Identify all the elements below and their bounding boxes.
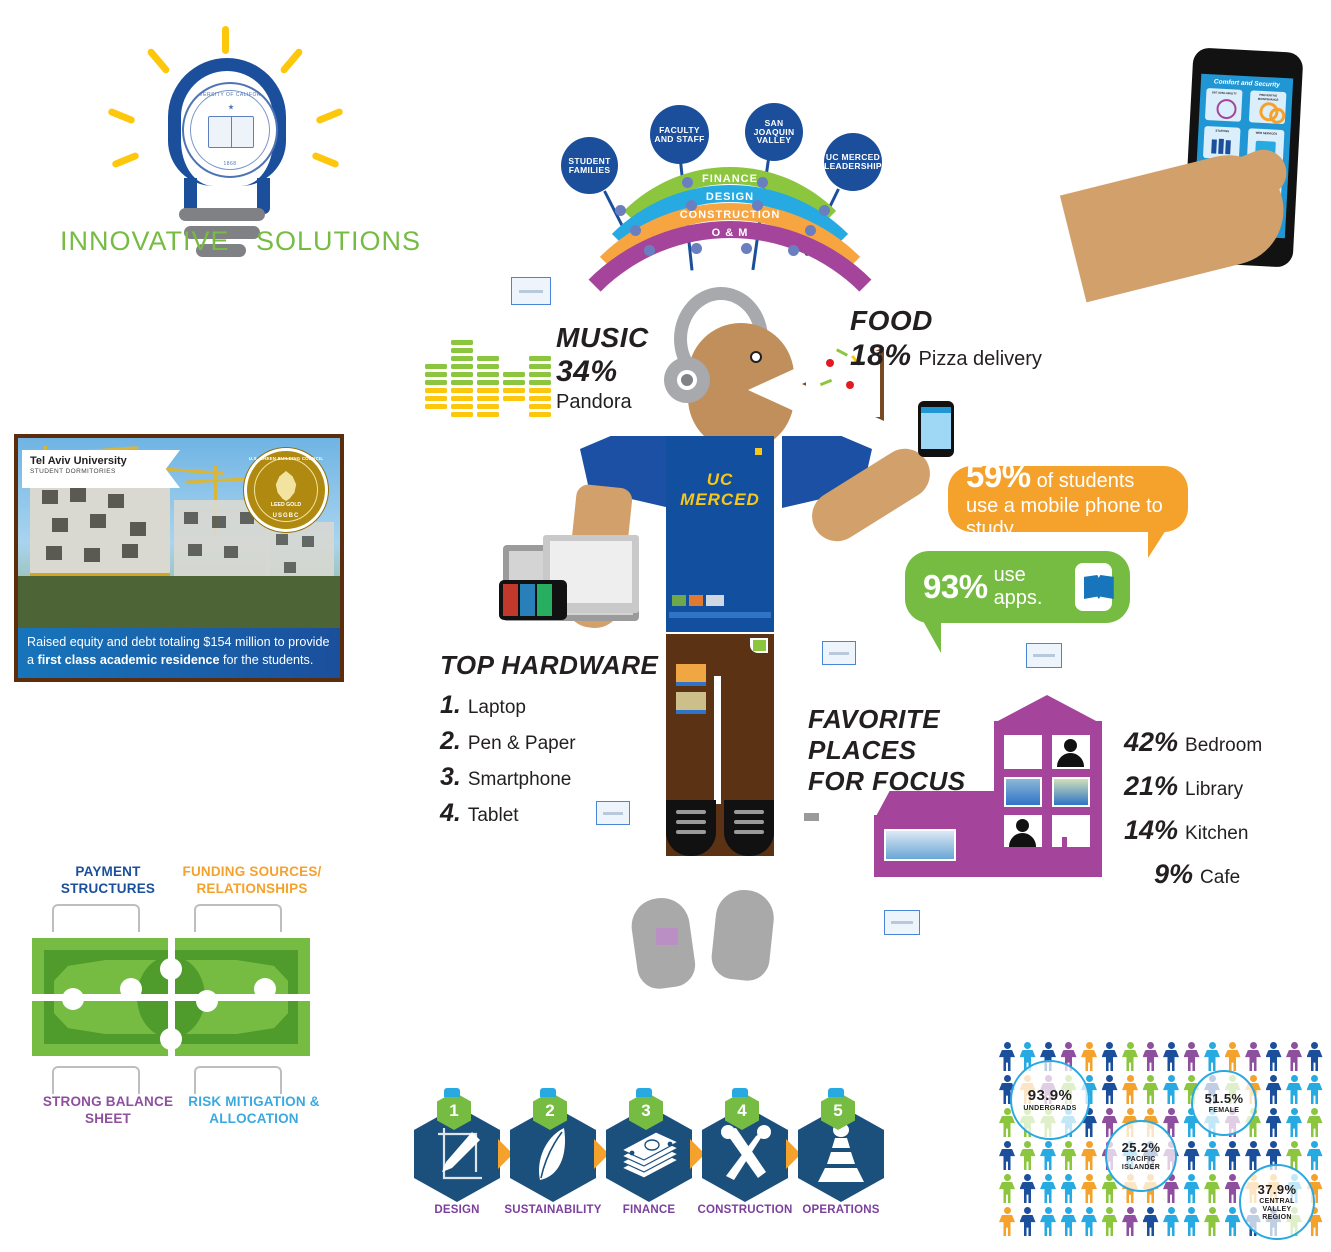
person-icon (1245, 1050, 1261, 1071)
person-icon (1065, 1042, 1072, 1049)
person-icon (1147, 1207, 1154, 1214)
person-icon (1127, 1207, 1134, 1214)
puzzle-label-funding-sources: FUNDING SOURCES/ RELATIONSHIPS (172, 864, 332, 898)
badge-level: LEED GOLD (247, 502, 325, 508)
person-icon (1209, 1174, 1216, 1181)
connection-node (615, 205, 626, 216)
person-icon (1020, 1215, 1036, 1236)
footprint-accent (656, 928, 678, 945)
step-label-operations: OPERATIONS (781, 1204, 901, 1216)
person-icon (1270, 1108, 1277, 1115)
demographic-label: CENTRAL VALLEY REGION (1247, 1198, 1307, 1222)
person-icon (1168, 1075, 1175, 1082)
list-item: 3. Smartphone (440, 763, 670, 792)
person-icon (1081, 1149, 1097, 1170)
person-icon (1045, 1042, 1052, 1049)
item-label: Pen & Paper (468, 733, 576, 755)
bubble-label: STUDENT FAMILIES (561, 157, 618, 175)
person-icon (1016, 819, 1029, 832)
step-number: 1 (449, 1101, 458, 1121)
image-placeholder-thumb[interactable] (884, 910, 920, 935)
person-icon (1004, 1141, 1011, 1148)
connection-node (686, 200, 697, 211)
person-icon (1291, 1108, 1298, 1115)
arch-label-om: O & M (712, 227, 749, 239)
person-icon (1061, 1215, 1077, 1236)
person-icon (1229, 1207, 1236, 1214)
headphone-earcup (664, 357, 710, 403)
project-photo-card: Tel Aviv University STUDENT DORMITORIES … (14, 434, 344, 682)
person-icon (1122, 1215, 1138, 1236)
ray-icon (111, 152, 140, 169)
person-icon (1065, 1141, 1072, 1148)
seal-top-text: UNIVERSITY OF CALIFORNIA (184, 92, 276, 98)
bubble-text: use apps. (994, 564, 1061, 610)
list-item: 21% Library (1124, 771, 1262, 802)
person-icon (999, 1215, 1015, 1236)
speech-bubble-use-apps: 93% use apps. (905, 551, 1130, 623)
app-tile-maintenance[interactable]: PREVENTIVE MAINTENANCE (1249, 90, 1287, 124)
item-number: 2. (440, 727, 461, 756)
project-subtitle: STUDENT DORMITORIES (30, 468, 172, 475)
person-icon (1225, 1149, 1241, 1170)
person-icon (1168, 1042, 1175, 1049)
person-icon (999, 1116, 1015, 1137)
person-icon (1024, 1207, 1031, 1214)
person-icon (1311, 1075, 1318, 1082)
fav-percent: 42% (1124, 727, 1178, 758)
person-icon (1081, 1182, 1097, 1203)
person-icon (1229, 1141, 1236, 1148)
stakeholder-bubble-student-families[interactable]: STUDENT FAMILIES (561, 137, 618, 194)
person-icon (1163, 1215, 1179, 1236)
equalizer-icon (425, 330, 535, 422)
innovative-solutions-logo: UNIVERSITY OF CALIFORNIA 1868 INNOVATIVE… (60, 20, 400, 280)
project-lifecycle-steps: 1 DESIGN 2 SUSTAINABILITY 3 FINANCE (412, 1092, 882, 1212)
person-icon (1286, 1116, 1302, 1137)
person-icon (1184, 1182, 1200, 1203)
person-icon (1307, 1050, 1323, 1071)
puzzle-label-payment-structures: PAYMENT STRUCTURES (38, 864, 178, 898)
student-head-with-headphones (650, 285, 840, 420)
list-item: 9% Cafe (1154, 859, 1262, 890)
person-icon (1225, 1215, 1241, 1236)
logo-word-innovative: INNOVATIVE (60, 226, 230, 257)
person-icon (1184, 1050, 1200, 1071)
person-icon (1024, 1141, 1031, 1148)
arch-label-finance: FINANCE (702, 173, 758, 185)
person-icon (1024, 1174, 1031, 1181)
badge-top-text: U.S. GREEN BUILDING COUNCIL (247, 456, 325, 461)
project-name: Tel Aviv University (30, 455, 172, 467)
person-icon (1106, 1207, 1113, 1214)
person-icon (1286, 1050, 1302, 1071)
shirt-text: UC MERCED (666, 470, 774, 510)
fav-label: Cafe (1200, 867, 1240, 889)
person-icon (1266, 1116, 1282, 1137)
bubble-label: SAN JOAQUIN VALLEY (745, 119, 803, 146)
connection-node (805, 225, 816, 236)
logo-word-solutions: SOLUTIONS (256, 226, 421, 257)
fav-label: Library (1185, 779, 1243, 801)
demographic-circle-female: 51.5% FEMALE (1191, 1070, 1257, 1136)
person-icon (1147, 1075, 1154, 1082)
connection-node (819, 205, 830, 216)
person-icon (1209, 1141, 1216, 1148)
app-tile-availability[interactable]: 24/7 AVAILABILITY (1205, 88, 1243, 122)
bubble-percent: 59% (966, 457, 1031, 494)
food-detail: Pizza delivery (919, 348, 1042, 371)
person-icon (1040, 1149, 1056, 1170)
top-hardware-list: TOP HARDWARE 1. Laptop 2. Pen & Paper 3.… (440, 650, 670, 828)
person-icon (1204, 1215, 1220, 1236)
person-icon (1045, 1174, 1052, 1181)
connection-node (757, 177, 768, 188)
food-title: FOOD (850, 305, 1042, 337)
person-icon (1270, 1141, 1277, 1148)
person-icon (1307, 1116, 1323, 1137)
list-item: 42% Bedroom (1124, 727, 1262, 758)
person-icon (1004, 1075, 1011, 1082)
person-icon (1266, 1083, 1282, 1104)
person-icon (1086, 1075, 1093, 1082)
person-icon (1045, 1141, 1052, 1148)
item-number: 3. (440, 763, 461, 792)
image-placeholder-thumb[interactable] (1026, 643, 1062, 668)
person-icon (1127, 1042, 1134, 1049)
favorite-places-values: 42% Bedroom 21% Library 14% Kitchen 9% C… (1124, 727, 1262, 890)
person-icon (1229, 1174, 1236, 1181)
person-icon (1020, 1182, 1036, 1203)
list-item: 2. Pen & Paper (440, 727, 670, 756)
fav-percent: 9% (1154, 859, 1193, 890)
food-stat: FOOD 18% Pizza delivery (850, 305, 1042, 373)
image-placeholder-thumb[interactable] (511, 277, 551, 305)
person-icon (1311, 1108, 1318, 1115)
person-icon (1311, 1141, 1318, 1148)
person-icon (1086, 1141, 1093, 1148)
step-number: 4 (737, 1101, 746, 1121)
person-icon (1188, 1174, 1195, 1181)
person-icon (1106, 1042, 1113, 1049)
person-icon (1188, 1207, 1195, 1214)
fav-percent: 21% (1124, 771, 1178, 802)
ray-icon (315, 108, 344, 125)
chevron-connector (194, 904, 282, 932)
person-icon (1127, 1075, 1134, 1082)
uc-merced-tshirt: UC MERCED (666, 436, 774, 632)
ray-icon (279, 47, 304, 74)
person-icon (1168, 1108, 1175, 1115)
demographic-percent: 51.5% (1205, 1091, 1244, 1106)
person-icon (1163, 1182, 1179, 1203)
house-building-icon (836, 695, 1126, 880)
person-icon (1204, 1050, 1220, 1071)
step-number: 2 (545, 1101, 554, 1121)
bulb-base-bar (179, 208, 265, 221)
person-icon (1163, 1050, 1179, 1071)
person-icon (1065, 1207, 1072, 1214)
person-icon (1040, 1215, 1056, 1236)
person-icon (1102, 1050, 1118, 1071)
person-icon (1061, 1149, 1077, 1170)
connection-node (644, 245, 655, 256)
person-icon (1086, 1042, 1093, 1049)
app-tile-label: STAFFING (1204, 128, 1240, 134)
person-icon (1004, 1042, 1011, 1049)
person-icon (1020, 1149, 1036, 1170)
person-icon (1143, 1083, 1159, 1104)
person-icon (999, 1050, 1015, 1071)
connection-node (691, 243, 702, 254)
person-icon (1147, 1042, 1154, 1049)
held-smartphone[interactable] (918, 401, 954, 457)
person-icon (1102, 1083, 1118, 1104)
person-icon (1024, 1042, 1031, 1049)
ray-icon (146, 47, 171, 74)
item-label: Tablet (468, 805, 519, 827)
leed-gold-badge-icon: U.S. GREEN BUILDING COUNCIL LEED GOLD US… (244, 448, 328, 532)
fav-label: Bedroom (1185, 735, 1262, 757)
vegetation (18, 576, 340, 628)
person-icon (1065, 1174, 1072, 1181)
person-icon (1286, 1083, 1302, 1104)
book-icon (1075, 563, 1112, 611)
demographics-people-grid: 93.9% UNDERGRADS 51.5% FEMALE 25.2% PACI… (995, 1038, 1325, 1243)
person-icon (1004, 1174, 1011, 1181)
ray-icon (311, 152, 340, 169)
person-icon (1102, 1215, 1118, 1236)
person-icon (1311, 1174, 1318, 1181)
financing-puzzle-diagram: PAYMENT STRUCTURES FUNDING SOURCES/ RELA… (20, 860, 340, 1150)
person-icon (1147, 1108, 1154, 1115)
item-label: Laptop (468, 697, 526, 719)
bubble-percent: 93% (923, 568, 988, 606)
stakeholder-arch-diagram: STUDENT FAMILIES FACULTY AND STAFF SAN J… (545, 95, 915, 285)
caption-highlight: first class academic residence (38, 653, 220, 667)
person-icon (1122, 1083, 1138, 1104)
person-icon (1270, 1042, 1277, 1049)
eye-icon (750, 351, 762, 363)
person-icon (1168, 1207, 1175, 1214)
demographic-circle-pacific-islander: 25.2% PACIFIC ISLANDER (1105, 1120, 1177, 1192)
person-icon (1307, 1149, 1323, 1170)
puzzle-label-strong-balance-sheet: STRONG BALANCE SHEET (30, 1094, 186, 1128)
bubble-label: UC MERCED LEADERSHIP (824, 153, 882, 171)
person-icon (1291, 1042, 1298, 1049)
food-percent: 18% (850, 339, 912, 373)
person-icon (999, 1149, 1015, 1170)
list-item: 4. Tablet (440, 799, 670, 828)
connection-node (630, 225, 641, 236)
person-icon (1127, 1108, 1134, 1115)
person-icon (1106, 1075, 1113, 1082)
person-icon (1163, 1083, 1179, 1104)
person-icon (1270, 1075, 1277, 1082)
project-name-ribbon: Tel Aviv University STUDENT DORMITORIES (22, 450, 180, 488)
chevron-connector (52, 904, 140, 932)
connection-node (752, 200, 763, 211)
list-item: 14% Kitchen (1124, 815, 1262, 846)
seal-year: 1868 (184, 161, 276, 167)
uc-seal-icon: UNIVERSITY OF CALIFORNIA 1868 (182, 82, 278, 178)
connection-node (741, 243, 752, 254)
dollar-bill-puzzle (32, 938, 310, 1056)
shoe-left (666, 800, 716, 856)
person-icon (1225, 1050, 1241, 1071)
person-icon (1064, 739, 1077, 752)
hand-holding-phone-illustration: Comfort and Security 24/7 AVAILABILITY P… (1070, 40, 1330, 300)
person-icon (1102, 1182, 1118, 1203)
person-icon (1188, 1075, 1195, 1082)
person-icon (1081, 1215, 1097, 1236)
person-icon (1291, 1141, 1298, 1148)
person-icon (1209, 1207, 1216, 1214)
person-icon (1184, 1149, 1200, 1170)
bubble-label: FACULTY AND STAFF (650, 126, 709, 144)
stakeholder-bubble-uc-merced-leadership[interactable]: UC MERCED LEADERSHIP (824, 133, 882, 191)
app-tile-label: 24/7 AVAILABILITY (1206, 90, 1242, 96)
demographic-label: UNDERGRADS (1023, 1105, 1076, 1113)
person-icon (1106, 1108, 1113, 1115)
person-icon (1204, 1182, 1220, 1203)
pants (666, 634, 774, 856)
music-percent: 34% (556, 355, 649, 389)
person-icon (1086, 1207, 1093, 1214)
person-icon (1245, 1149, 1261, 1170)
person-icon (999, 1182, 1015, 1203)
person-icon (1250, 1141, 1257, 1148)
connection-node (788, 245, 799, 256)
arch-label-design: DESIGN (706, 191, 754, 203)
person-icon (1307, 1083, 1323, 1104)
music-title: MUSIC (556, 322, 649, 354)
item-label: Smartphone (468, 769, 572, 791)
step-number: 5 (833, 1101, 842, 1121)
image-placeholder-thumb[interactable] (822, 641, 856, 665)
app-tile-label: PREVENTIVE MAINTENANCE (1250, 92, 1286, 102)
demographic-label: FEMALE (1209, 1107, 1240, 1115)
person-icon (1086, 1174, 1093, 1181)
chevron-connector (194, 1066, 282, 1094)
demographic-percent: 93.9% (1028, 1087, 1073, 1104)
person-icon (1188, 1042, 1195, 1049)
puzzle-label-risk-mitigation: RISK MITIGATION & ALLOCATION (172, 1094, 336, 1128)
person-icon (1081, 1050, 1097, 1071)
person-icon (1311, 1042, 1318, 1049)
top-hardware-title: TOP HARDWARE (440, 650, 670, 681)
smartphone-device[interactable] (499, 580, 567, 620)
person-icon (1229, 1042, 1236, 1049)
fav-percent: 14% (1124, 815, 1178, 846)
stakeholder-bubble-faculty-staff[interactable]: FACULTY AND STAFF (650, 105, 709, 164)
music-stat: MUSIC 34% Pandora (556, 322, 649, 414)
item-number: 1. (440, 691, 461, 720)
person-icon (1004, 1207, 1011, 1214)
person-icon (1061, 1182, 1077, 1203)
ray-icon (222, 26, 229, 54)
person-icon (1040, 1182, 1056, 1203)
person-icon (1209, 1042, 1216, 1049)
footprint-icon (709, 887, 776, 983)
shoe-right (724, 800, 774, 856)
ray-icon (107, 108, 136, 125)
demographic-label: PACIFIC ISLANDER (1114, 1156, 1168, 1172)
project-photo: Tel Aviv University STUDENT DORMITORIES … (18, 438, 340, 628)
person-icon (1184, 1215, 1200, 1236)
person-icon (1045, 1207, 1052, 1214)
connection-node (682, 177, 693, 188)
list-item: 1. Laptop (440, 691, 670, 720)
chevron-connector (52, 1066, 140, 1094)
person-icon (1143, 1215, 1159, 1236)
app-tile-label: WEB SERVICES (1248, 130, 1284, 136)
grey-marker (804, 813, 819, 821)
person-icon (1143, 1050, 1159, 1071)
fav-label: Kitchen (1185, 823, 1248, 845)
person-icon (1266, 1050, 1282, 1071)
person-icon (1250, 1042, 1257, 1049)
music-detail: Pandora (556, 391, 649, 414)
person-icon (1204, 1149, 1220, 1170)
demographic-percent: 37.9% (1258, 1182, 1297, 1197)
demographic-circle-undergrads: 93.9% UNDERGRADS (1010, 1060, 1090, 1140)
person-icon (1122, 1050, 1138, 1071)
caption-part-2: for the students. (220, 653, 314, 667)
person-icon (1188, 1141, 1195, 1148)
speech-bubble-mobile-study: 59%of students use a mobile phone to stu… (948, 466, 1188, 532)
badge-org: USGBC (247, 513, 325, 519)
person-icon (1250, 1075, 1257, 1082)
project-caption: Raised equity and debt totaling $154 mil… (18, 628, 340, 678)
demographic-circle-central-valley: 37.9% CENTRAL VALLEY REGION (1239, 1164, 1315, 1240)
step-number: 3 (641, 1101, 650, 1121)
item-number: 4. (440, 799, 461, 828)
arch-label-construction: CONSTRUCTION (680, 209, 781, 221)
person-icon (1004, 1108, 1011, 1115)
demographic-percent: 25.2% (1122, 1140, 1161, 1155)
person-icon (1291, 1075, 1298, 1082)
stakeholder-bubble-san-joaquin-valley[interactable]: SAN JOAQUIN VALLEY (745, 103, 803, 161)
